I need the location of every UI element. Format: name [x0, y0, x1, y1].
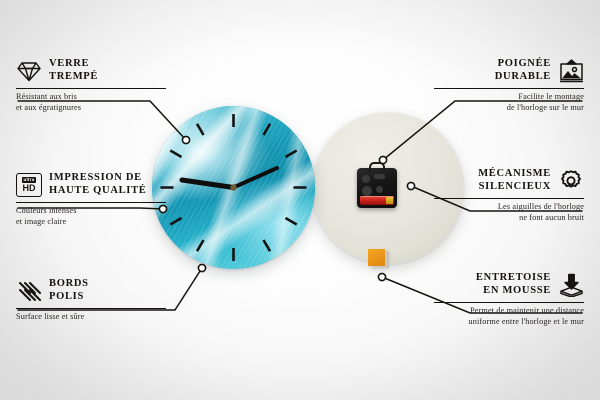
- feature-title: ENTRETOISE EN MOUSSE: [476, 272, 551, 298]
- hanging-picture-frame-icon: [558, 58, 584, 84]
- mechanism-detail: [362, 175, 370, 183]
- feature-title: IMPRESSION DE HAUTE QUALITÉ: [49, 172, 147, 198]
- feature-title: MÉCANISME SILENCIEUX: [478, 168, 551, 194]
- feature-entretoise-en-mousse: ENTRETOISE EN MOUSSE Permet de maintenir…: [434, 272, 584, 328]
- foam-spacer-arrow-icon: [558, 272, 584, 298]
- feature-divider: [16, 88, 166, 89]
- callout-marker-entretoise: [378, 273, 385, 280]
- mechanism-detail: [376, 186, 383, 193]
- ultra-hd-badge-bottom-text: HD: [23, 184, 36, 193]
- feature-title: POIGNÉE DURABLE: [495, 58, 551, 84]
- feature-title: VERRE TREMPÉ: [49, 58, 98, 84]
- quartz-mechanism-box: [357, 168, 397, 208]
- foam-spacer: [368, 249, 385, 266]
- feature-header: BORDS POLIS: [16, 278, 166, 304]
- clock-front-face: [152, 106, 315, 269]
- feature-title: BORDS POLIS: [49, 278, 89, 304]
- hands-center-cap: [230, 184, 236, 190]
- feature-description: Résistant aux bris et aux égratignures: [16, 92, 166, 114]
- feature-description: Couleurs intenses et image claire: [16, 206, 166, 228]
- feature-mecanisme-silencieux: MÉCANISME SILENCIEUX Les aiguilles de l'…: [434, 168, 584, 224]
- infographic-canvas: VERRE TREMPÉ Résistant aux bris et aux é…: [0, 0, 600, 400]
- feature-header: MÉCANISME SILENCIEUX: [434, 168, 584, 194]
- feature-bords-polis: BORDS POLIS Surface lisse et sûre: [16, 278, 166, 323]
- feature-header: POIGNÉE DURABLE: [434, 58, 584, 84]
- feature-divider: [16, 202, 166, 203]
- feature-divider: [434, 302, 584, 303]
- feature-description: Facilite le montage de l'horloge sur le …: [434, 92, 584, 114]
- feature-description: Les aiguilles de l'horloge ne font aucun…: [434, 202, 584, 224]
- feature-description: Permet de maintenir une distance uniform…: [434, 306, 584, 328]
- gear-icon: [558, 168, 584, 194]
- feature-header: ultra HD IMPRESSION DE HAUTE QUALITÉ: [16, 172, 166, 198]
- feature-divider: [434, 198, 584, 199]
- hanging-tab-icon: [369, 162, 385, 172]
- mechanism-detail: [362, 186, 372, 196]
- minute-hand: [234, 168, 278, 188]
- feature-impression-haute-qualite: ultra HD IMPRESSION DE HAUTE QUALITÉ Cou…: [16, 172, 166, 228]
- feature-description: Surface lisse et sûre: [16, 312, 166, 323]
- mechanism-detail: [374, 174, 385, 179]
- clock-hands: [152, 106, 315, 269]
- feature-poignee-durable: POIGNÉE DURABLE Facilite le montage de l…: [434, 58, 584, 114]
- polished-edges-icon: [16, 278, 42, 304]
- feature-header: VERRE TREMPÉ: [16, 58, 166, 84]
- hour-hand: [182, 180, 234, 188]
- battery: [360, 196, 394, 205]
- feature-divider: [16, 308, 166, 309]
- diamond-icon: [16, 58, 42, 84]
- ultra-hd-badge-icon: ultra HD: [16, 172, 42, 198]
- feature-header: ENTRETOISE EN MOUSSE: [434, 272, 584, 298]
- feature-verre-trempe: VERRE TREMPÉ Résistant aux bris et aux é…: [16, 58, 166, 114]
- ultra-hd-badge-top-text: ultra: [22, 177, 37, 183]
- feature-divider: [434, 88, 584, 89]
